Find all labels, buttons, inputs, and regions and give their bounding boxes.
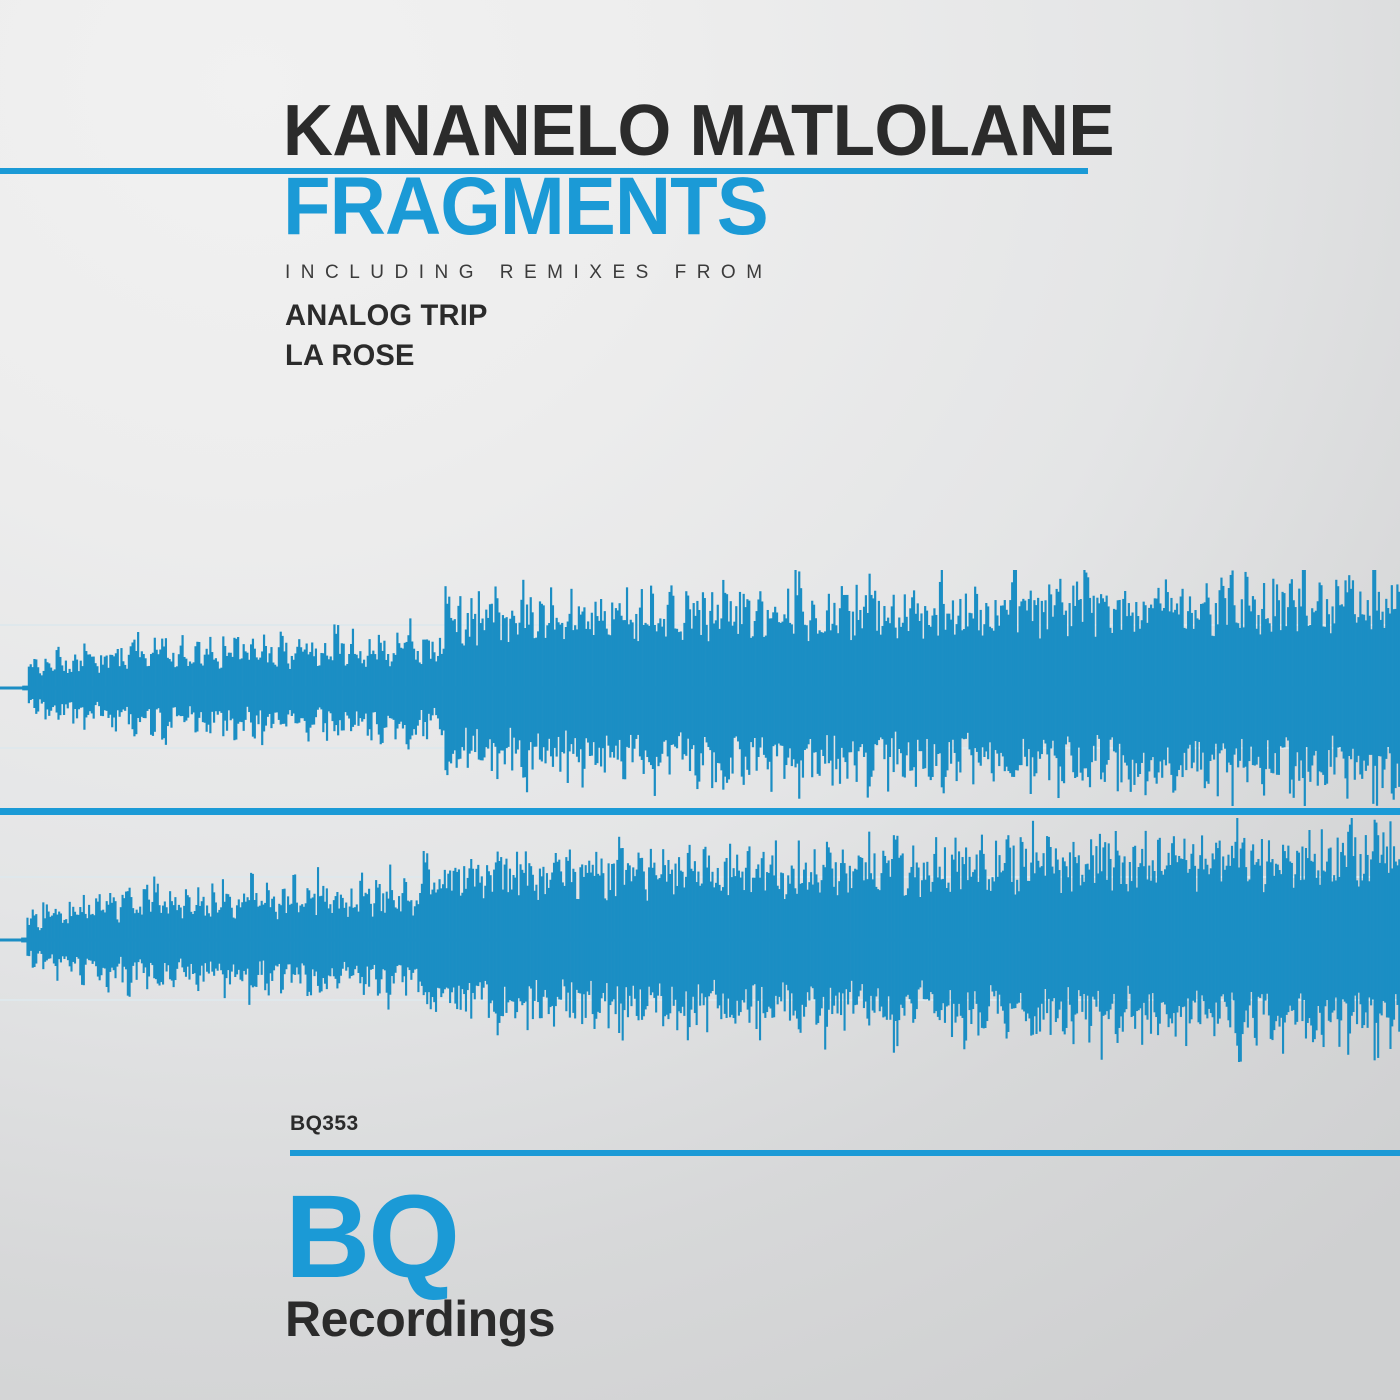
artist-name: KANANELO MATLOLANE [283, 95, 1114, 167]
release-title: FRAGMENTS [283, 166, 768, 248]
remixer-name: LA ROSE [285, 336, 867, 376]
remix-kicker: INCLUDING REMIXES FROM [285, 262, 773, 284]
remixer-name: ANALOG TRIP [285, 296, 867, 336]
waveform-bottom-svg [0, 815, 1400, 1065]
waveform-top-svg [0, 560, 1400, 808]
waveform-bars [0, 818, 1400, 1062]
waveform-bottom [0, 815, 1400, 1065]
waveform-bars [0, 570, 1400, 806]
accent-rule-bottom [290, 1150, 1400, 1156]
catalog-number: BQ353 [290, 1112, 359, 1136]
album-cover: KANANELO MATLOLANE FRAGMENTS INCLUDING R… [0, 0, 1400, 1400]
label-logo-mark: BQ [285, 1185, 555, 1289]
remixer-list: ANALOG TRIP LA ROSE [285, 296, 885, 376]
label-logo-word: Recordings [285, 1291, 555, 1347]
accent-rule-middle [0, 808, 1400, 815]
label-logo: BQ Recordings [285, 1185, 555, 1347]
waveform-top [0, 560, 1400, 808]
